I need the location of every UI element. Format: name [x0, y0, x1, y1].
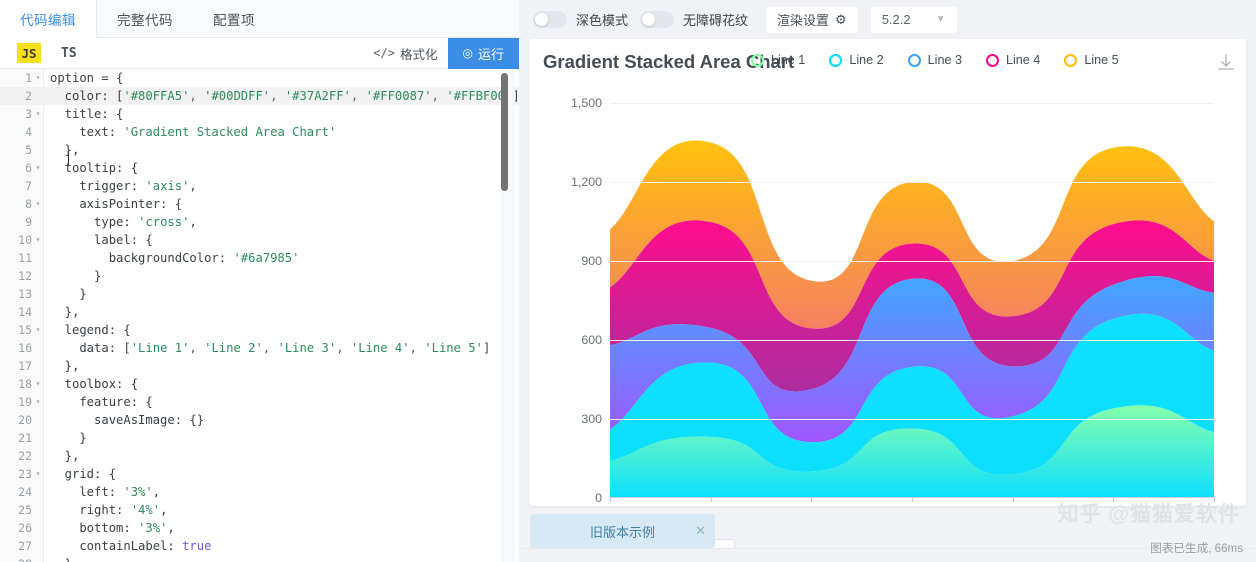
code-token: axisPointer: {	[50, 197, 182, 211]
code-line[interactable]: 11 backgroundColor: '#6a7985'	[0, 249, 519, 267]
code-line[interactable]: 13 }	[0, 285, 519, 303]
close-icon[interactable]: ✕	[695, 523, 706, 539]
legend-label: Line 2	[849, 53, 883, 67]
code-text: },	[50, 141, 79, 159]
code-text: toolbox: {	[50, 375, 138, 393]
legend-marker-icon	[751, 54, 764, 67]
code-token: '#6a7985'	[233, 251, 299, 265]
code-token: toolbox: {	[50, 377, 138, 391]
code-editor-pane: 代码编辑 完整代码 配置项 JS TS </> 格式化 ◎ 运行 1▾optio…	[0, 0, 519, 562]
line-number: 12	[0, 267, 32, 285]
version-select[interactable]: 5.2.2 ▼	[871, 7, 957, 33]
code-token: ,	[410, 341, 425, 355]
preview-pane: 深色模式 无障碍花纹 渲染设置 ⚙ 5.2.2 ▼ Gradient Stack…	[519, 0, 1256, 562]
legend-item-line-2[interactable]: Line 2	[829, 53, 883, 67]
line-number: 9	[0, 213, 32, 231]
code-token: '3%'	[123, 485, 152, 499]
code-token: true	[182, 539, 211, 553]
code-text: axisPointer: {	[50, 195, 182, 213]
code-token: left:	[50, 485, 123, 499]
code-token: ,	[189, 215, 196, 229]
line-number: 26	[0, 519, 32, 537]
code-fold-toggle[interactable]: ▾	[34, 393, 42, 411]
code-token: ,	[263, 341, 278, 355]
line-number: 25	[0, 501, 32, 519]
app-root: 代码编辑 完整代码 配置项 JS TS </> 格式化 ◎ 运行 1▾optio…	[0, 0, 1256, 562]
line-number: 11	[0, 249, 32, 267]
code-text: text: 'Gradient Stacked Area Chart'	[50, 123, 336, 141]
line-number: 3	[0, 105, 32, 123]
text-caret	[68, 151, 69, 165]
editor-scrollbar-track[interactable]	[502, 69, 515, 562]
line-number: 19	[0, 393, 32, 411]
tab-config-options-label: 配置项	[213, 9, 255, 29]
code-token: ,	[189, 179, 196, 193]
code-line[interactable]: 19▾ feature: {	[0, 393, 519, 411]
code-token: ]	[483, 341, 490, 355]
code-fold-toggle[interactable]: ▾	[34, 69, 42, 87]
code-line[interactable]: 1▾option = {	[0, 69, 519, 87]
y-axis-tick-label: 900	[581, 254, 602, 268]
legend-item-line-3[interactable]: Line 3	[908, 53, 962, 67]
line-number: 4	[0, 123, 32, 141]
code-fold-toggle[interactable]: ▾	[34, 465, 42, 483]
tab-full-code[interactable]: 完整代码	[97, 0, 193, 37]
code-text: grid: {	[50, 465, 116, 483]
old-version-tip-label: 旧版本示例	[590, 522, 655, 541]
code-text: title: {	[50, 105, 123, 123]
code-token: },	[50, 359, 79, 373]
code-text: type: 'cross',	[50, 213, 197, 231]
line-number: 22	[0, 447, 32, 465]
line-number: 15	[0, 321, 32, 339]
code-token: ,	[270, 89, 285, 103]
code-token: 'Line 2'	[204, 341, 263, 355]
legend-label: Line 3	[928, 53, 962, 67]
gridline	[610, 419, 1214, 420]
chevron-down-icon: ▼	[936, 14, 946, 25]
play-circle-icon: ◎	[463, 46, 473, 60]
code-token: ,	[351, 89, 366, 103]
code-token: ,	[153, 485, 160, 499]
gridline	[610, 261, 1214, 262]
code-fold-toggle[interactable]: ▾	[34, 231, 42, 249]
gridline	[610, 182, 1214, 183]
code-token: },	[50, 305, 79, 319]
format-code-button[interactable]: </> 格式化	[373, 44, 437, 63]
legend-marker-icon	[1064, 54, 1077, 67]
chart-grid-area: 03006009001,2001,500 MonTueWedThuFriSatS…	[610, 103, 1214, 498]
legend-label: Line 5	[1084, 53, 1118, 67]
code-token: '4%'	[131, 503, 160, 517]
line-number: 14	[0, 303, 32, 321]
code-line[interactable]: 22 },	[0, 447, 519, 465]
gear-icon: ⚙	[835, 12, 847, 28]
code-token: '#37A2FF'	[285, 89, 351, 103]
code-text: }	[50, 285, 87, 303]
line-number: 18	[0, 375, 32, 393]
code-line[interactable]: 15▾ legend: {	[0, 321, 519, 339]
code-token: '3%'	[138, 521, 167, 535]
code-fold-toggle[interactable]: ▾	[34, 321, 42, 339]
code-line[interactable]: 28 }	[0, 555, 519, 562]
code-text: label: {	[50, 231, 153, 249]
run-button[interactable]: ◎ 运行	[448, 38, 520, 69]
code-line[interactable]: 3▾ title: {	[0, 105, 519, 123]
bottom-strip	[519, 548, 1256, 562]
code-token: label: {	[50, 233, 153, 247]
code-text: legend: {	[50, 321, 131, 339]
code-token: '#00DDFF'	[204, 89, 270, 103]
tab-code-edit-label: 代码编辑	[20, 9, 76, 29]
code-token: saveAsImage: {}	[50, 413, 204, 427]
gridline	[610, 103, 1214, 104]
code-token: type:	[50, 215, 138, 229]
language-ts-button[interactable]: TS	[61, 46, 77, 61]
code-token: color: [	[50, 89, 123, 103]
code-text: trigger: 'axis',	[50, 177, 197, 195]
line-number: 28	[0, 555, 32, 562]
code-token: bottom:	[50, 521, 138, 535]
legend-item-line-1[interactable]: Line 1	[751, 53, 805, 67]
download-icon[interactable]	[1215, 52, 1237, 74]
code-token: }	[50, 269, 101, 283]
x-axis-tick	[1113, 497, 1114, 502]
code-line[interactable]: 4 text: 'Gradient Stacked Area Chart'	[0, 123, 519, 141]
code-line[interactable]: 25 right: '4%',	[0, 501, 519, 519]
legend-label: Line 1	[771, 53, 805, 67]
line-number: 16	[0, 339, 32, 357]
editor-toolbar: JS TS </> 格式化 ◎ 运行	[0, 38, 519, 69]
code-token: ,	[432, 89, 447, 103]
chart-card: Gradient Stacked Area Chart Line 1Line 2…	[529, 39, 1246, 506]
code-token: title: {	[50, 107, 123, 121]
code-token: 'Gradient Stacked Area Chart'	[123, 125, 336, 139]
code-token: '#FF0087'	[366, 89, 432, 103]
code-token: ,	[189, 341, 204, 355]
code-token: ,	[189, 89, 204, 103]
code-text: tooltip: {	[50, 159, 138, 177]
code-text: },	[50, 447, 79, 465]
code-fold-toggle[interactable]: ▾	[34, 105, 42, 123]
code-fold-toggle[interactable]: ▾	[34, 159, 42, 177]
code-line[interactable]: 23▾ grid: {	[0, 465, 519, 483]
code-token: 'axis'	[145, 179, 189, 193]
line-number: 27	[0, 537, 32, 555]
code-token: 'Line 3'	[278, 341, 337, 355]
code-text: },	[50, 303, 79, 321]
line-number: 23	[0, 465, 32, 483]
code-token: 'Line 4'	[351, 341, 410, 355]
accessible-pattern-toggle[interactable]	[640, 11, 674, 28]
y-axis-tick-label: 300	[581, 412, 602, 426]
code-text: containLabel: true	[50, 537, 211, 555]
code-text: }	[50, 555, 72, 562]
render-settings-label: 渲染设置	[777, 10, 829, 29]
code-fold-toggle[interactable]: ▾	[34, 375, 42, 393]
line-number: 10	[0, 231, 32, 249]
code-text: right: '4%',	[50, 501, 167, 519]
dark-mode-label: 深色模式	[576, 10, 628, 29]
code-token: tooltip: {	[50, 161, 138, 175]
x-axis-tick	[811, 497, 812, 502]
code-token: '#80FFA5'	[123, 89, 189, 103]
code-line[interactable]: 24 left: '3%',	[0, 483, 519, 501]
dark-mode-toggle[interactable]	[533, 11, 567, 28]
code-text: },	[50, 357, 79, 375]
code-token: data: [	[50, 341, 131, 355]
code-line[interactable]: 17 },	[0, 357, 519, 375]
code-line[interactable]: 2 color: ['#80FFA5', '#00DDFF', '#37A2FF…	[0, 87, 519, 105]
code-line[interactable]: 21 }	[0, 429, 519, 447]
code-line[interactable]: 26 bottom: '3%',	[0, 519, 519, 537]
code-line[interactable]: 5 },	[0, 141, 519, 159]
code-token: 'cross'	[138, 215, 189, 229]
code-line[interactable]: 6▾ tooltip: {	[0, 159, 519, 177]
code-line[interactable]: 27 containLabel: true	[0, 537, 519, 555]
chart-plot: 03006009001,2001,500 MonTueWedThuFriSatS…	[529, 85, 1246, 506]
legend-marker-icon	[829, 54, 842, 67]
legend-marker-icon	[908, 54, 921, 67]
preview-toolbar: 深色模式 无障碍花纹 渲染设置 ⚙ 5.2.2 ▼	[519, 0, 1256, 39]
tab-code-edit[interactable]: 代码编辑	[0, 0, 97, 38]
code-token: right:	[50, 503, 131, 517]
tab-config-options[interactable]: 配置项	[193, 0, 275, 37]
y-axis-tick-label: 1,200	[571, 175, 602, 189]
code-text: option = {	[50, 69, 123, 87]
code-token: ,	[160, 503, 167, 517]
code-text: }	[50, 429, 87, 447]
code-text: color: ['#80FFA5', '#00DDFF', '#37A2FF',…	[50, 87, 519, 105]
line-number: 2	[0, 87, 32, 105]
format-code-label: 格式化	[400, 44, 438, 63]
x-axis-tick	[912, 497, 913, 502]
legend-item-line-4[interactable]: Line 4	[986, 53, 1040, 67]
code-line[interactable]: 12 }	[0, 267, 519, 285]
legend-item-line-5[interactable]: Line 5	[1064, 53, 1118, 67]
code-token: }	[50, 287, 87, 301]
code-brackets-icon: </>	[373, 46, 395, 60]
editor-tab-bar: 代码编辑 完整代码 配置项	[0, 0, 519, 38]
code-token: trigger:	[50, 179, 145, 193]
gridline	[610, 340, 1214, 341]
code-token: },	[50, 143, 79, 157]
code-line[interactable]: 9 type: 'cross',	[0, 213, 519, 231]
code-token: },	[50, 449, 79, 463]
editor-scrollbar-thumb[interactable]	[501, 73, 508, 191]
line-number: 5	[0, 141, 32, 159]
line-number: 24	[0, 483, 32, 501]
x-axis-tick	[610, 497, 611, 502]
line-number: 20	[0, 411, 32, 429]
line-number: 17	[0, 357, 32, 375]
line-number: 7	[0, 177, 32, 195]
code-token: text:	[50, 125, 123, 139]
code-token: backgroundColor:	[50, 251, 233, 265]
run-button-label: 运行	[478, 44, 504, 63]
x-axis-tick	[1214, 497, 1215, 502]
code-lines[interactable]: 1▾option = {2 color: ['#80FFA5', '#00DDF…	[0, 69, 519, 562]
code-text: left: '3%',	[50, 483, 160, 501]
code-line[interactable]: 20 saveAsImage: {}	[0, 411, 519, 429]
line-number: 6	[0, 159, 32, 177]
code-token: 'Line 1'	[131, 341, 190, 355]
code-line[interactable]: 14 },	[0, 303, 519, 321]
code-area[interactable]: 1▾option = {2 color: ['#80FFA5', '#00DDF…	[0, 69, 519, 562]
code-line[interactable]: 8▾ axisPointer: {	[0, 195, 519, 213]
code-token: }	[50, 431, 87, 445]
code-text: saveAsImage: {}	[50, 411, 204, 429]
code-line[interactable]: 18▾ toolbox: {	[0, 375, 519, 393]
code-line[interactable]: 7 trigger: 'axis',	[0, 177, 519, 195]
code-line[interactable]: 10▾ label: {	[0, 231, 519, 249]
code-line[interactable]: 16 data: ['Line 1', 'Line 2', 'Line 3', …	[0, 339, 519, 357]
code-token: feature: {	[50, 395, 153, 409]
code-token: }	[50, 557, 72, 562]
status-text: 图表已生成, 66ms	[1150, 540, 1243, 556]
code-token: 'Line 5'	[424, 341, 483, 355]
code-text: backgroundColor: '#6a7985'	[50, 249, 299, 267]
accessible-pattern-label: 无障碍花纹	[683, 10, 748, 29]
legend-label: Line 4	[1006, 53, 1040, 67]
x-axis-tick	[1013, 497, 1014, 502]
stacked-area-series	[610, 103, 1214, 498]
code-text: data: ['Line 1', 'Line 2', 'Line 3', 'Li…	[50, 339, 490, 357]
code-token: grid: {	[50, 467, 116, 481]
line-number: 8	[0, 195, 32, 213]
code-token: legend: {	[50, 323, 131, 337]
render-settings-button[interactable]: 渲染设置 ⚙	[766, 7, 858, 33]
tab-full-code-label: 完整代码	[117, 9, 173, 29]
code-token: ,	[167, 521, 174, 535]
code-token: ,	[336, 341, 351, 355]
accessible-pattern-toggle-knob	[642, 13, 655, 26]
language-js-button[interactable]: JS	[17, 43, 41, 63]
code-token: option = {	[50, 71, 123, 85]
code-text: feature: {	[50, 393, 153, 411]
code-token: containLabel:	[50, 539, 182, 553]
dark-mode-toggle-knob	[535, 13, 548, 26]
code-text: bottom: '3%',	[50, 519, 175, 537]
y-axis-tick-label: 600	[581, 333, 602, 347]
x-axis-tick	[711, 497, 712, 502]
code-text: }	[50, 267, 101, 285]
line-number: 1	[0, 69, 32, 87]
y-axis-tick-label: 0	[595, 491, 602, 505]
code-fold-toggle[interactable]: ▾	[34, 195, 42, 213]
y-axis-tick-label: 1,500	[571, 96, 602, 110]
line-number: 21	[0, 429, 32, 447]
chart-legend[interactable]: Line 1Line 2Line 3Line 4Line 5	[751, 53, 1143, 67]
version-select-value: 5.2.2	[882, 12, 911, 27]
preview-bottom-bar: ↧ 下载示例 ▣ 截图 旧版本示例 ✕ 知乎 @猫猫爱软件 图表已生成, 66m…	[519, 506, 1256, 562]
line-number: 13	[0, 285, 32, 303]
legend-marker-icon	[986, 54, 999, 67]
old-version-tip: 旧版本示例 ✕	[530, 514, 715, 548]
